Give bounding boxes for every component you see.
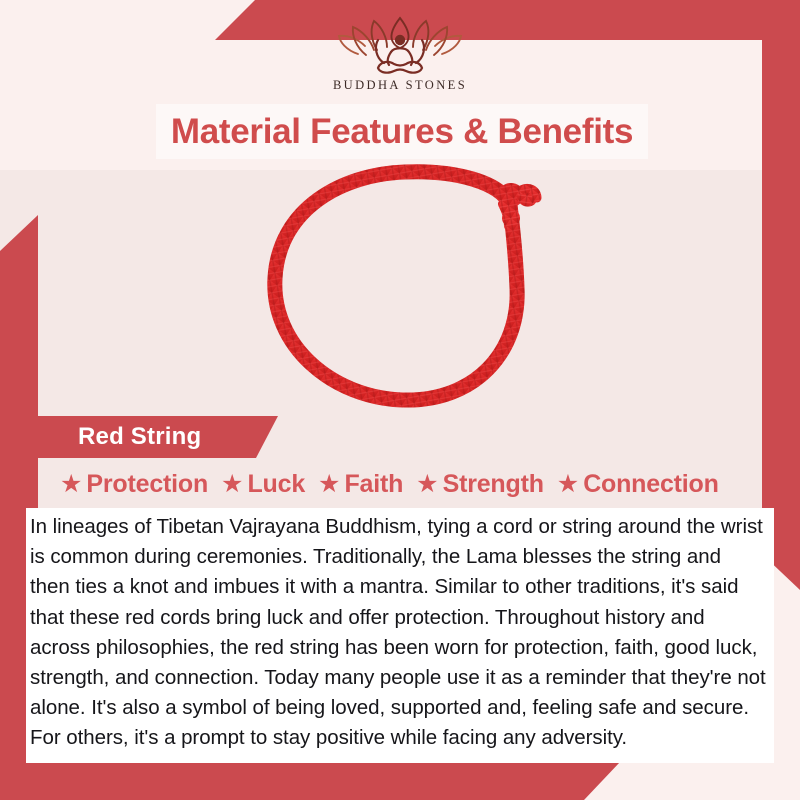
benefit-item-protection: ★ Protection xyxy=(60,470,208,499)
brand-logo: BUDDHA STONES xyxy=(0,14,800,93)
product-image xyxy=(255,160,565,425)
red-braided-string-bracelet-icon xyxy=(255,160,565,425)
benefit-item-luck: ★ Luck xyxy=(221,470,305,499)
benefit-label: Protection xyxy=(86,470,208,499)
material-label-banner: Red String xyxy=(38,416,278,458)
brand-name: BUDDHA STONES xyxy=(333,78,467,93)
star-icon: ★ xyxy=(60,472,82,497)
description-panel: In lineages of Tibetan Vajrayana Buddhis… xyxy=(26,508,774,763)
benefit-item-connection: ★ Connection xyxy=(557,470,719,499)
frame-bar-bottom xyxy=(0,762,620,800)
benefit-label: Connection xyxy=(583,470,719,499)
benefit-label: Strength xyxy=(443,470,544,499)
title-plate: Material Features & Benefits xyxy=(156,104,648,159)
benefit-label: Luck xyxy=(247,470,305,499)
lotus-meditation-icon xyxy=(336,14,464,76)
material-features-poster: BUDDHA STONES Material Features & Benefi… xyxy=(0,0,800,800)
star-icon: ★ xyxy=(318,472,340,497)
benefit-label: Faith xyxy=(344,470,403,499)
benefit-item-faith: ★ Faith xyxy=(318,470,403,499)
page-title: Material Features & Benefits xyxy=(171,112,633,152)
star-icon: ★ xyxy=(557,472,579,497)
benefits-list: ★ Protection ★ Luck ★ Faith ★ Strength ★… xyxy=(60,466,760,502)
star-icon: ★ xyxy=(221,472,243,497)
star-icon: ★ xyxy=(416,472,438,497)
material-label: Red String xyxy=(38,423,201,451)
description-text: In lineages of Tibetan Vajrayana Buddhis… xyxy=(30,512,766,754)
benefit-item-strength: ★ Strength xyxy=(416,470,544,499)
